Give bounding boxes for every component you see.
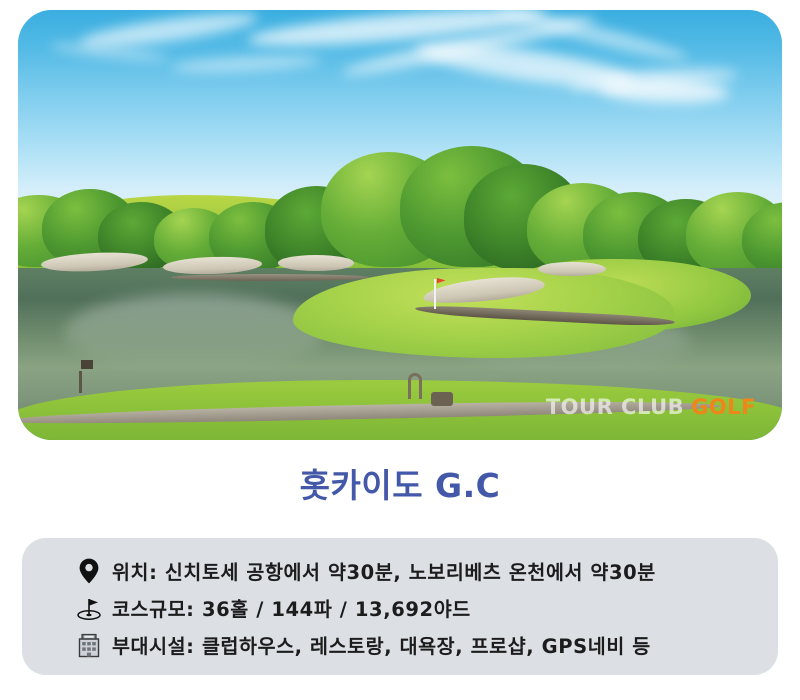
- watermark-accent-text: GOLF: [691, 395, 756, 419]
- location-pin-icon: [72, 556, 106, 586]
- info-row-course-size: 코스규모: 36홀 / 144파 / 13,692야드: [22, 589, 778, 626]
- course-signpost: [408, 373, 422, 399]
- course-photo: TOUR CLUBGOLF: [18, 10, 782, 440]
- distance-marker-post: [79, 371, 82, 393]
- photo-watermark: TOUR CLUBGOLF: [546, 397, 756, 418]
- hotel-building-icon: [72, 630, 106, 660]
- water-reflection: [64, 294, 324, 371]
- golf-course-card: TOUR CLUBGOLF 홋카이도 G.C 위치: 신치토세 공항에서 약30…: [0, 0, 800, 700]
- info-row-facilities-text: 부대시설: 클럽하우스, 레스토랑, 대욕장, 프로샵, GPS네비 등: [112, 630, 651, 659]
- distance-marker-flag: [81, 360, 93, 369]
- info-row-location: 위치: 신치토세 공항에서 약30분, 노보리베츠 온천에서 약30분: [22, 552, 778, 589]
- info-row-facilities: 부대시설: 클럽하우스, 레스토랑, 대욕장, 프로샵, GPS네비 등: [22, 626, 778, 663]
- page-title: 홋카이도 G.C: [0, 466, 800, 506]
- sand-bunker: [278, 255, 354, 270]
- pin-flag-pole: [434, 279, 436, 309]
- cloud-shape: [171, 53, 322, 75]
- tee-marker-box: [431, 392, 453, 406]
- sand-bunker: [538, 262, 607, 277]
- watermark-primary-text: TOUR CLUB: [546, 395, 684, 419]
- course-photo-image: TOUR CLUBGOLF: [18, 10, 782, 440]
- info-row-course-size-text: 코스규모: 36홀 / 144파 / 13,692야드: [112, 593, 471, 622]
- info-row-location-text: 위치: 신치토세 공항에서 약30분, 노보리베츠 온천에서 약30분: [112, 556, 656, 585]
- golf-flag-icon: [72, 593, 106, 623]
- course-info-box: 위치: 신치토세 공항에서 약30분, 노보리베츠 온천에서 약30분 코스규모…: [22, 538, 778, 675]
